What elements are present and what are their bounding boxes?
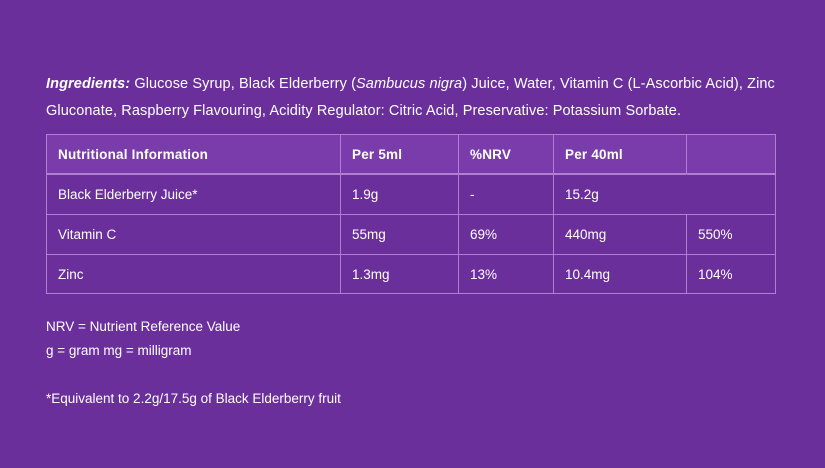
table-row: Vitamin C 55mg 69% 440mg 550%	[46, 214, 776, 254]
nutrient-nrv-40ml: 550%	[686, 214, 776, 254]
table-header: Nutritional Information Per 5ml %NRV Per…	[46, 134, 776, 174]
ingredients-paragraph: Ingredients: Glucose Syrup, Black Elderb…	[46, 71, 776, 125]
nutrient-name: Black Elderberry Juice*	[46, 174, 340, 214]
column-header-nrv: %NRV	[458, 134, 553, 174]
table-body: Black Elderberry Juice* 1.9g - 15.2g Vit…	[46, 174, 776, 294]
ingredients-text-before-scientific-name: Glucose Syrup, Black Elderberry (	[130, 76, 356, 92]
nutrient-nrv-40ml: 104%	[686, 254, 776, 294]
scientific-name: Sambucus nigra	[356, 76, 462, 92]
nutrient-nrv-5ml: 69%	[458, 214, 553, 254]
table-row: Zinc 1.3mg 13% 10.4mg 104%	[46, 254, 776, 294]
nutrient-nrv-5ml: 13%	[458, 254, 553, 294]
nrv-definition: NRV = Nutrient Reference Value	[46, 315, 240, 339]
column-header-nrv-40ml	[686, 134, 776, 174]
nutrient-nrv-5ml: -	[458, 174, 553, 214]
table-row: Black Elderberry Juice* 1.9g - 15.2g	[46, 174, 776, 214]
nutrient-per-5ml: 55mg	[340, 214, 458, 254]
nutrient-per-5ml: 1.9g	[340, 174, 458, 214]
footnotes-block: NRV = Nutrient Reference Value g = gram …	[46, 315, 240, 363]
nutrition-panel: Ingredients: Glucose Syrup, Black Elderb…	[0, 0, 825, 468]
nutrient-per-40ml: 440mg	[553, 214, 686, 254]
nutrient-per-40ml: 10.4mg	[553, 254, 686, 294]
nutrient-name: Vitamin C	[46, 214, 340, 254]
nutrient-name: Zinc	[46, 254, 340, 294]
column-header-nutritional-information: Nutritional Information	[46, 134, 340, 174]
table-header-row: Nutritional Information Per 5ml %NRV Per…	[46, 134, 776, 174]
nutrient-per-5ml: 1.3mg	[340, 254, 458, 294]
nutritional-information-table: Nutritional Information Per 5ml %NRV Per…	[46, 134, 776, 294]
column-header-per-5ml: Per 5ml	[340, 134, 458, 174]
nutrient-per-40ml: 15.2g	[553, 174, 686, 214]
equivalent-note: *Equivalent to 2.2g/17.5g of Black Elder…	[46, 388, 341, 410]
column-header-per-40ml: Per 40ml	[553, 134, 686, 174]
nutrient-nrv-40ml	[686, 174, 776, 214]
ingredients-label: Ingredients:	[46, 76, 130, 92]
unit-definition: g = gram mg = milligram	[46, 339, 240, 363]
